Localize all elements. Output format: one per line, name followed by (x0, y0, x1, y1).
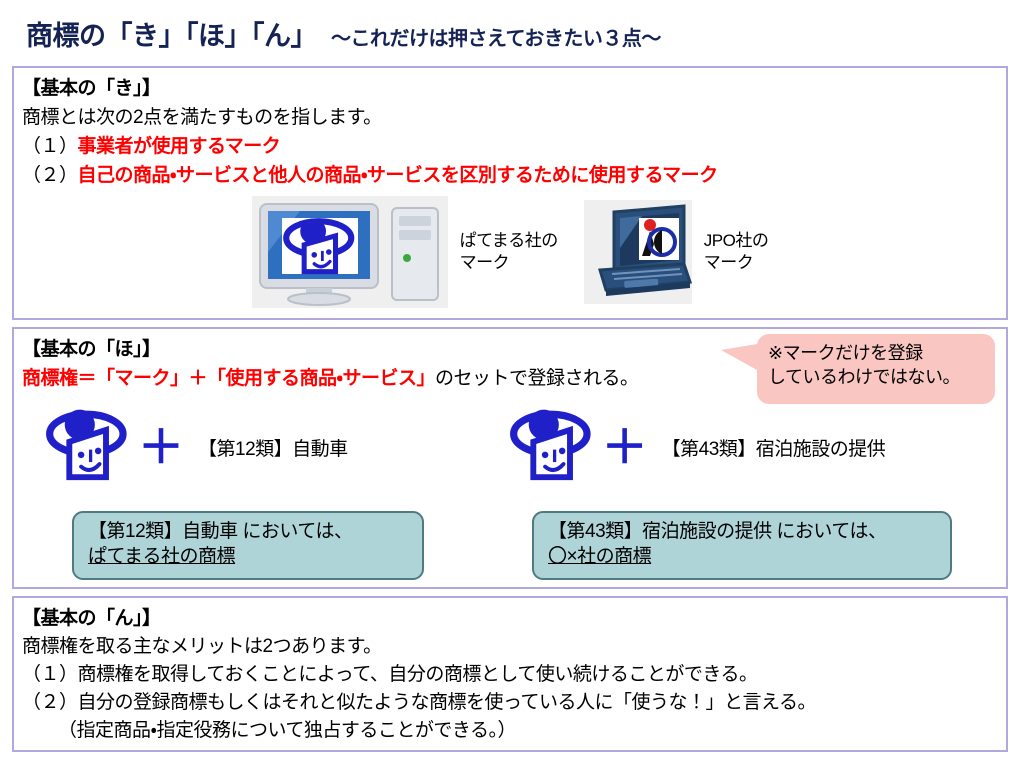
section-ho-result-row: 【第12類】自動車 においては、 ぱてまる社の商標 【第43類】宿泊施設の提供 … (14, 511, 1006, 580)
section-ho-line-0-text: 商標権＝「マーク」＋「使用する商品・サービス」 (22, 368, 435, 389)
page-title: 商標の「き」「ほ」「ん」 ～これだけは押さえておきたい３点～ (26, 14, 661, 53)
section-kihon-no-ki: 【基本の「き」】 商標とは次の2点を満たすものを指します。 （１）事業者が使用す… (12, 66, 1008, 320)
combo-class-43: ＋ 【第43類】宿泊施設の提供 (508, 409, 886, 485)
figure-patemaru-caption-line2: マーク (460, 252, 558, 274)
section-ki-line-0: 商標とは次の2点を満たすものを指します。 (22, 102, 1006, 129)
result-box-class-12: 【第12類】自動車 においては、 ぱてまる社の商標 (72, 511, 424, 580)
callout-note-line1: ※マークだけを登録 (768, 341, 995, 365)
section-n-line-0: 商標権を取る主なメリットは2つあります。 (22, 631, 1006, 658)
figure-jpo-caption-line1: JPO社の (704, 230, 769, 252)
section-ki-line-1-text: 事業者が使用するマーク (78, 136, 281, 157)
section-n-heading: 【基本の「ん」】 (22, 603, 1006, 630)
callout-tail (721, 344, 757, 370)
patemaru-house-mark-icon (44, 409, 130, 485)
callout-note-line2: しているわけではない。 (768, 365, 995, 389)
section-n-line-1: （１）商標権を取得しておくことによって、自分の商標として使い続けることができる。 (22, 659, 1006, 686)
page-title-subtitle: ～これだけは押さえておきたい３点～ (331, 22, 661, 51)
result-box-class-43: 【第43類】宿泊施設の提供 においては、 〇×社の商標 (532, 511, 952, 580)
patemaru-house-mark-icon (508, 409, 594, 485)
section-ki-line-2-lead: （２） (22, 165, 78, 186)
figure-patemaru-caption-line1: ぱてまる社の (460, 230, 558, 252)
callout-note-text: ※マークだけを登録 しているわけではない。 (757, 334, 995, 390)
section-ki-figure-row: ぱてまる社の マーク (14, 196, 1006, 308)
section-ki-line-1: （１）事業者が使用するマーク (22, 131, 1006, 158)
combo-class-12-label: 【第12類】自動車 (198, 434, 348, 461)
section-ho-combo-row: ＋ 【第12類】自動車 ＋ 【第43類】宿泊施設の提供 (14, 409, 1006, 485)
desktop-computer-with-patemaru-mark-icon (252, 196, 448, 308)
section-ki-line-1-lead: （１） (22, 136, 78, 157)
section-n-line-3: （指定商品・指定役務について独占することができる。） (58, 715, 1006, 742)
page-title-main: 商標の「き」「ほ」「ん」 (26, 14, 317, 53)
section-kihon-no-n: 【基本の「ん」】 商標権を取る主なメリットは2つあります。 （１）商標権を取得し… (12, 596, 1008, 752)
figure-patemaru-caption: ぱてまる社の マーク (460, 230, 558, 274)
result-box-class-43-line2: 〇×社の商標 (548, 545, 936, 570)
result-box-class-43-line1: 【第43類】宿泊施設の提供 においては、 (548, 520, 936, 545)
callout-note: ※マークだけを登録 しているわけではない。 (757, 334, 995, 404)
result-box-class-12-line1: 【第12類】自動車 においては、 (88, 520, 408, 545)
figure-jpo-caption: JPO社の マーク (704, 230, 769, 274)
combo-class-12: ＋ 【第12類】自動車 (44, 409, 348, 485)
combo-class-12-plus: ＋ (138, 431, 184, 463)
figure-jpo-caption-line2: マーク (704, 252, 769, 274)
section-n-line-2: （２）自分の登録商標もしくはそれと似たような商標を使っている人に「使うな！」と言… (22, 687, 1006, 714)
section-ho-line-0-tail: のセットで登録される。 (435, 368, 639, 389)
section-ki-heading: 【基本の「き」】 (22, 73, 1006, 100)
laptop-computer-with-jpo-mark-icon (584, 200, 692, 304)
combo-class-43-label: 【第43類】宿泊施設の提供 (662, 434, 886, 461)
figure-patemaru: ぱてまる社の マーク (252, 196, 558, 308)
result-box-class-12-line2: ぱてまる社の商標 (88, 545, 408, 570)
figure-jpo: JPO社の マーク (584, 200, 769, 304)
section-ki-line-2-text: 自己の商品・サービスと他人の商品・サービスを区別するために使用するマーク (78, 165, 718, 186)
combo-class-43-plus: ＋ (602, 431, 648, 463)
section-ki-line-2: （２）自己の商品・サービスと他人の商品・サービスを区別するために使用するマーク (22, 160, 1006, 187)
